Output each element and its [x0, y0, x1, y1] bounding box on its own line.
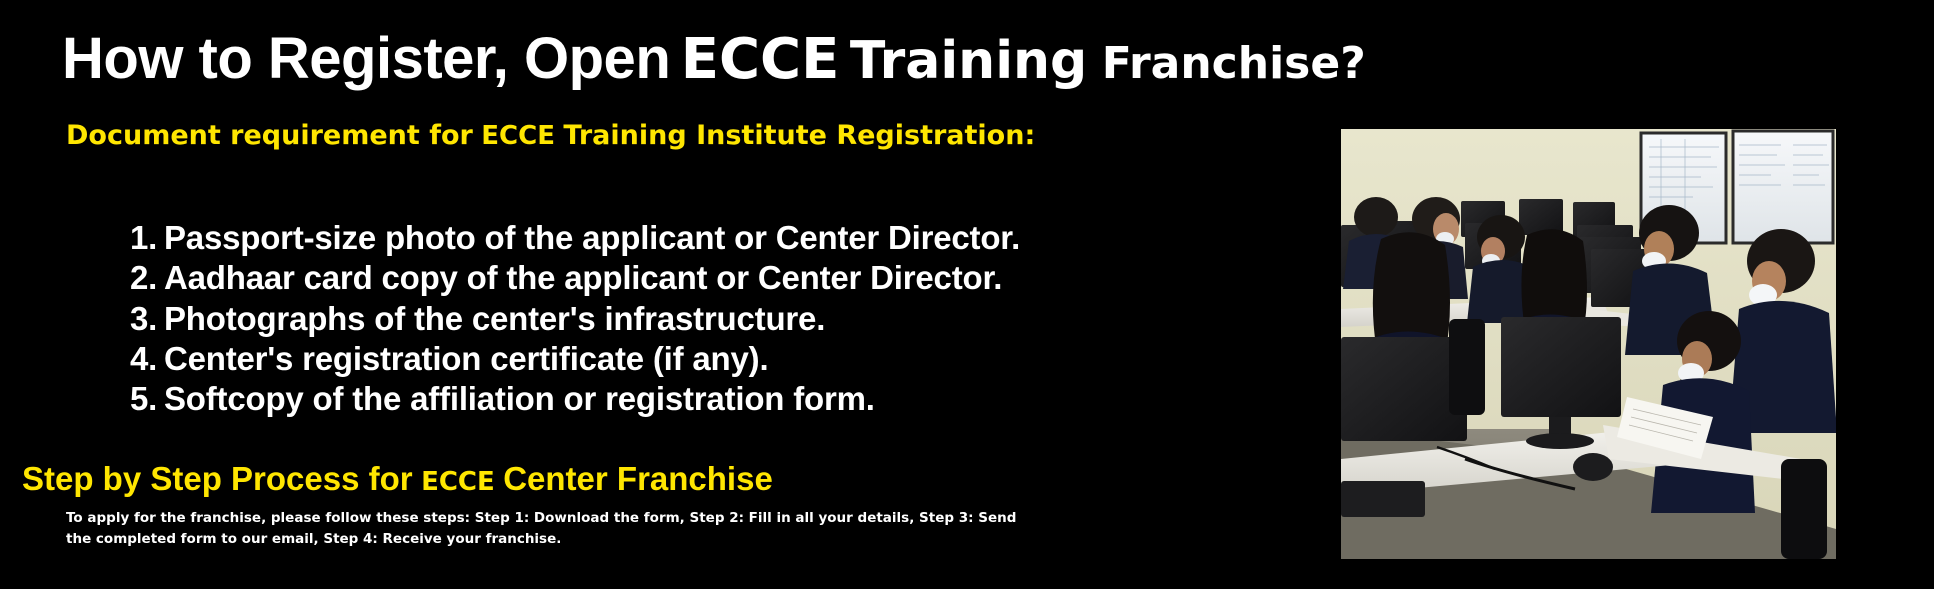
- step-process-description: To apply for the franchise, please follo…: [66, 508, 1046, 550]
- title-part-1: How to Register, Open: [62, 26, 670, 91]
- list-item-label: Passport-size photo of the applicant or …: [164, 219, 1020, 256]
- list-item-label: Center's registration certificate (if an…: [164, 340, 768, 377]
- steps-heading-part-2: Center Franchise: [503, 460, 773, 497]
- whiteboard-right: [1733, 131, 1833, 243]
- list-item: 2.Aadhaar card copy of the applicant or …: [130, 258, 1020, 298]
- page-title: How to Register, Open ECCE Training Fran…: [62, 30, 1366, 88]
- list-item-number: 4.: [130, 339, 164, 379]
- list-item-number: 2.: [130, 258, 164, 298]
- document-requirement-list: 1.Passport-size photo of the applicant o…: [130, 218, 1020, 419]
- list-item-number: 1.: [130, 218, 164, 258]
- document-requirement-heading: Document requirement for ECCE Training I…: [66, 122, 1035, 149]
- slide-root: How to Register, Open ECCE Training Fran…: [0, 0, 1934, 589]
- list-item-number: 5.: [130, 379, 164, 419]
- keyboard-icon: [1341, 481, 1425, 517]
- list-item: 4.Center's registration certificate (if …: [130, 339, 1020, 379]
- list-item-number: 3.: [130, 299, 164, 339]
- list-item: 3.Photographs of the center's infrastruc…: [130, 299, 1020, 339]
- subheading-part-1: Document requirement for: [66, 120, 473, 151]
- list-item: 1.Passport-size photo of the applicant o…: [130, 218, 1020, 258]
- list-item-label: Aadhaar card copy of the applicant or Ce…: [164, 259, 1002, 296]
- mouse-icon: [1573, 453, 1613, 481]
- step-process-heading: Step by Step Process for ECCE Center Fra…: [22, 462, 773, 495]
- subheading-brand-ecce: ECCE: [477, 121, 559, 151]
- subheading-part-2: Training Institute Registration:: [563, 120, 1035, 151]
- list-item-label: Photographs of the center's infrastructu…: [164, 300, 825, 337]
- steps-heading-part-1: Step by Step Process for: [22, 460, 413, 497]
- classroom-photo: [1341, 129, 1836, 559]
- monitor-front-left: [1341, 337, 1467, 441]
- title-part-2: Training: [850, 31, 1087, 91]
- list-item-label: Softcopy of the affiliation or registrat…: [164, 380, 875, 417]
- list-item: 5.Softcopy of the affiliation or registr…: [130, 379, 1020, 419]
- title-brand-ecce: ECCE: [675, 27, 846, 92]
- title-part-3: Franchise?: [1092, 38, 1366, 89]
- classroom-photo-illustration: [1341, 129, 1836, 559]
- steps-heading-brand-ecce: ECCE: [417, 467, 499, 497]
